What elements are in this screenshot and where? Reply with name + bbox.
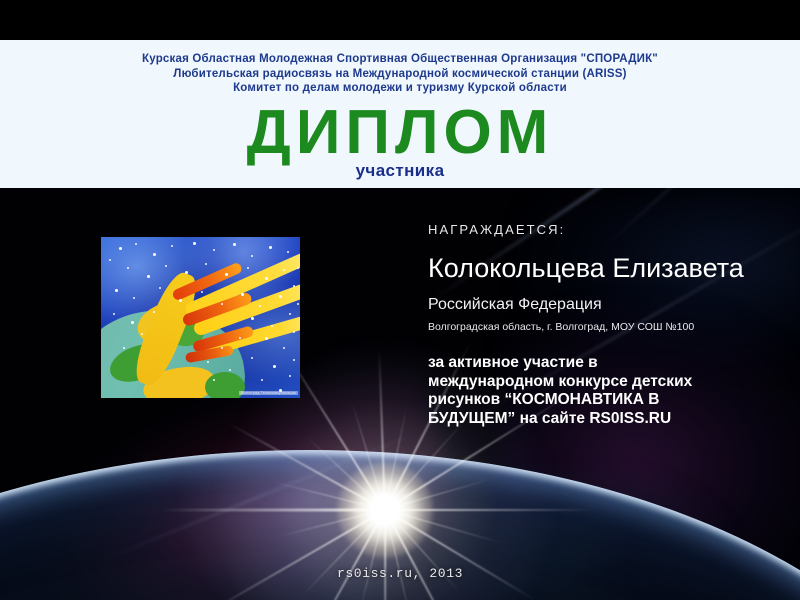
artwork-star (115, 289, 118, 292)
artwork-star (221, 303, 223, 305)
artwork-star (251, 317, 254, 320)
artwork-star (213, 379, 215, 381)
page-subtitle: участника (0, 161, 800, 181)
artwork-star (185, 271, 188, 274)
artwork-star (293, 285, 295, 287)
footer-credit: rs0iss.ru, 2013 (0, 566, 800, 581)
organization-line-3: Комитет по делам молодежи и туризму Курс… (0, 81, 800, 96)
artwork-star (259, 305, 261, 307)
artwork-star (297, 303, 299, 305)
artwork-star (271, 325, 273, 327)
artwork-star (293, 331, 295, 333)
artwork-star (225, 273, 228, 276)
award-reason-line-1: за активное участие в (428, 354, 792, 373)
artwork-star (153, 311, 155, 313)
artwork-star (265, 337, 268, 340)
artwork-star (131, 321, 134, 324)
artwork-star (133, 297, 135, 299)
artwork-thumbnail: Волгоград Телекоммуникации (101, 237, 300, 398)
artwork-star (247, 267, 249, 269)
artwork-star (251, 255, 253, 257)
award-reason: за активное участие в международном конк… (428, 354, 792, 428)
artwork-star (265, 277, 268, 280)
artwork-star (287, 251, 289, 253)
artwork-star (289, 375, 291, 377)
artwork-star (251, 357, 253, 359)
page-title: ДИПЛОМ (0, 101, 800, 165)
award-reason-line-4: БУДУЩЕМ” на сайте RS0ISS.RU (428, 410, 792, 429)
award-reason-line-2: международном конкурсе детских (428, 373, 792, 392)
artwork-star (241, 293, 244, 296)
top-black-bar (0, 0, 800, 40)
artwork-star (207, 361, 209, 363)
organization-line-1: Курская Областная Молодежная Спортивная … (0, 52, 800, 67)
artwork-star (205, 263, 207, 265)
artwork-star (113, 313, 115, 315)
recipient-country: Российская Федерация (428, 295, 792, 314)
artwork-star (279, 295, 282, 298)
artwork-star (119, 247, 122, 250)
artwork-watermark: Волгоград Телекоммуникации (239, 391, 298, 395)
artwork-star (123, 347, 125, 349)
artwork-star (283, 347, 285, 349)
certificate-page: Курская Областная Молодежная Спортивная … (0, 0, 800, 600)
artwork-star (147, 275, 150, 278)
artwork-star (297, 267, 299, 269)
award-details: НАГРАЖДАЕТСЯ: Колокольцева Елизавета Рос… (428, 222, 792, 428)
organization-line-2: Любительская радиосвязь на Международной… (0, 67, 800, 82)
organization-lines: Курская Областная Молодежная Спортивная … (0, 40, 800, 96)
recipient-region: Волгоградская область, г. Волгоград, МОУ… (428, 321, 792, 334)
artwork-star (135, 243, 137, 245)
recipient-name: Колокольцева Елизавета (428, 253, 792, 284)
award-label: НАГРАЖДАЕТСЯ: (428, 222, 792, 237)
artwork-star (201, 291, 203, 293)
artwork-star (109, 259, 111, 261)
artwork-star (127, 267, 129, 269)
header-band: Курская Областная Молодежная Спортивная … (0, 40, 800, 188)
artwork-star (289, 313, 291, 315)
artwork-star (269, 246, 272, 249)
artwork-star (171, 245, 173, 247)
award-reason-line-3: рисунков “КОСМОНАВТИКА В (428, 391, 792, 410)
artwork-star (153, 253, 156, 256)
artwork-star (165, 265, 167, 267)
sun-core (337, 462, 433, 558)
artwork-star (141, 333, 143, 335)
artwork-star (293, 359, 295, 361)
artwork-star (213, 249, 215, 251)
artwork-star (221, 347, 223, 349)
artwork-star (229, 369, 231, 371)
artwork-star (159, 287, 161, 289)
artwork-star (239, 337, 241, 339)
artwork-star (179, 299, 182, 302)
artwork-star (273, 365, 276, 368)
artwork-star (233, 243, 236, 246)
artwork-star (283, 269, 285, 271)
artwork-star (193, 242, 196, 245)
artwork-star (261, 379, 263, 381)
